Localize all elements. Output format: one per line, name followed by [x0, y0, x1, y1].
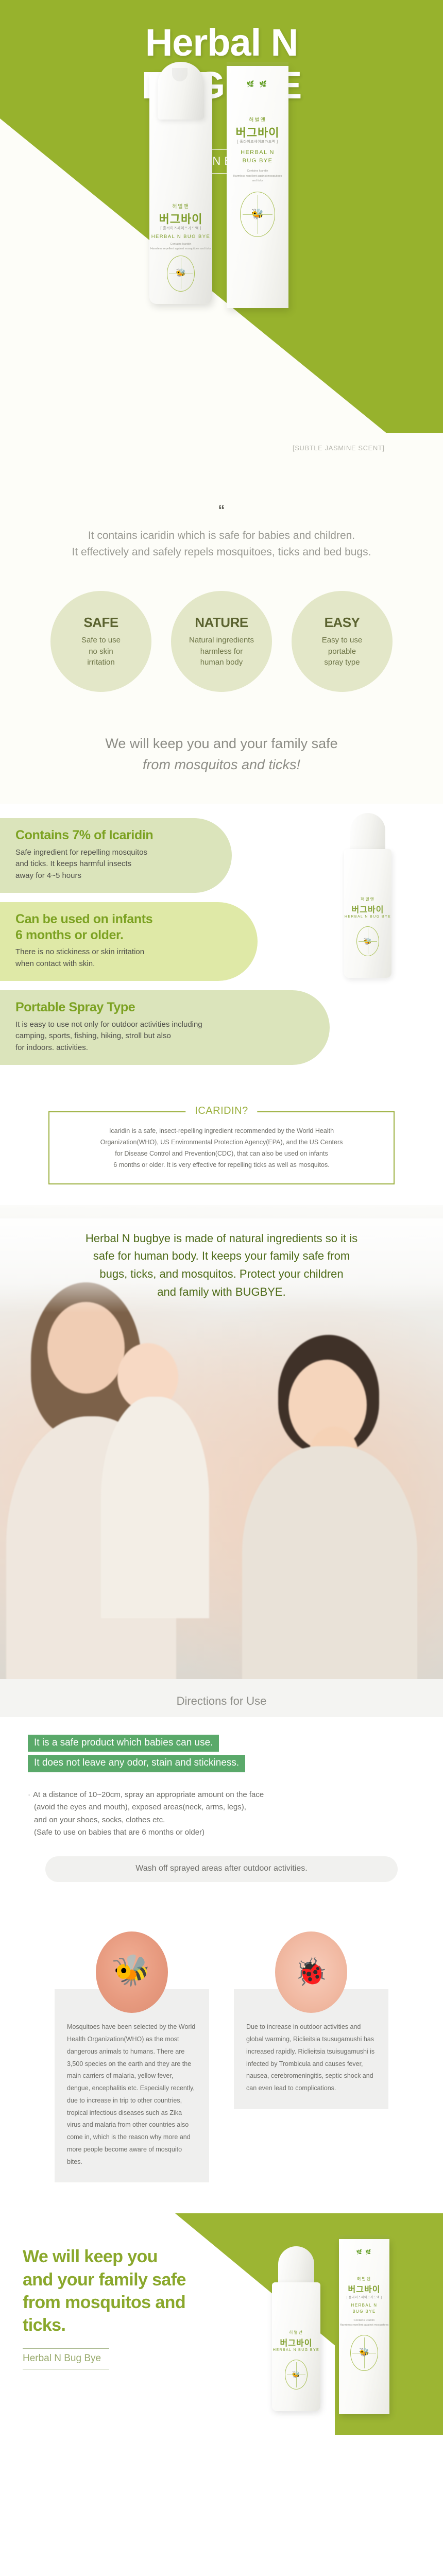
carton-label-kr-large: 버그바이	[227, 124, 288, 140]
footer-carton-kr-large: 버그바이	[339, 2282, 389, 2295]
feature-desc: Safe ingredient for repelling mosquitos …	[15, 847, 216, 882]
promise-headline: We will keep you and your family safe fr…	[0, 729, 443, 804]
quote-line1: It contains icaridin which is safe for b…	[0, 528, 443, 544]
benefit-circle-safe: SAFE Safe to use no skin irritation	[50, 591, 151, 692]
feature-desc-line2: camping, sports, fishing, hiking, stroll…	[15, 1031, 171, 1040]
feature-card-icaridin: Contains 7% of Icaridin Safe ingredient …	[0, 818, 232, 893]
carton-tiny-2: Harmless repellent against mosquitoes	[227, 174, 288, 178]
scent-note: [SUBTLE JASMINE SCENT]	[293, 444, 385, 452]
benefit-desc-line3: spray type	[322, 657, 362, 668]
icaridin-line2: Organization(WHO), US Environmental Prot…	[65, 1137, 378, 1148]
family-text-line2: safe for human body. It keeps your famil…	[21, 1247, 422, 1265]
footer-carton-mosquito-crosshair-icon: 🐝	[350, 2335, 378, 2371]
carton-tiny-3: and ticks	[227, 179, 288, 183]
footer-bottle-cap	[278, 2246, 314, 2287]
feature-desc-line2: when contact with skin.	[15, 959, 95, 968]
promise-line1: We will keep you and your family safe	[0, 733, 443, 754]
benefit-desc-line1: Safe to use	[81, 635, 121, 646]
footer-carton-bracket: [ 홀라이즈세이프가드액 ]	[339, 2295, 389, 2299]
footer-carton-mosquito-glyph: 🐝	[359, 2349, 369, 2357]
benefit-desc: Easy to use portable spray type	[322, 635, 362, 668]
icaridin-line1: Icaridin is a safe, insect-repelling ing…	[65, 1126, 378, 1137]
bottle-label-kr-small: 허벌앤	[149, 202, 212, 210]
benefit-desc: Natural ingredients harmless for human b…	[189, 635, 254, 668]
feature-title-line2: 6 months or older.	[15, 928, 124, 942]
footer-carton-kr-small: 허벌앤	[339, 2276, 389, 2282]
bottle-label-bracket: [ 홀라이즈세이프가드액 ]	[149, 226, 212, 231]
child-body-shape	[242, 1446, 417, 1679]
directions-heading: Directions for Use	[0, 1694, 443, 1717]
feature-bottle-kr-large: 버그바이	[344, 903, 391, 915]
footer-bottle-en: HERBAL N BUG BYE	[272, 2348, 320, 2352]
carton-label-en-1: HERBAL N	[227, 149, 288, 156]
directions-step-line3: and on your shoes, socks, clothes etc.	[28, 1814, 415, 1826]
benefit-desc-line3: human body	[189, 657, 254, 668]
product-detail-page: Herbal N BUGBYE Herbal N Bug Bye 허벌앤 버그바…	[0, 0, 443, 2435]
quote-line2: It effectively and safely repels mosquit…	[0, 544, 443, 561]
directions-section: Directions for Use It is a safe product …	[0, 1679, 443, 1903]
directions-steps: ·At a distance of 10~20cm, spray an appr…	[28, 1789, 415, 1839]
icaridin-callout-box: ICARIDIN? Icaridin is a safe, insect-rep…	[48, 1111, 395, 1184]
feature-desc-line3: for indoors. activities.	[15, 1043, 88, 1052]
footer-hero-section: We will keep you and your family safe fr…	[0, 2213, 443, 2435]
icaridin-body: Icaridin is a safe, insect-repelling ing…	[65, 1126, 378, 1171]
quote-text: It contains icaridin which is safe for b…	[0, 528, 443, 560]
bottle-label-tiny-1: Contains Icaridin	[149, 242, 212, 246]
footer-mosquito-crosshair-icon: 🐝	[285, 2360, 308, 2389]
bottle-label-kr-large: 버그바이	[149, 210, 212, 227]
icaridin-line4: 6 months or older. It is very effective …	[65, 1160, 378, 1171]
footer-bottle-kr-small: 허벌앤	[272, 2330, 320, 2335]
pest-card-mosquito: 🐝 Mosquitoes have been selected by the W…	[55, 1931, 209, 2182]
directions-card: It is a safe product which babies can us…	[0, 1717, 443, 1903]
mother-face-shape	[47, 1302, 125, 1394]
mosquito-icon: 🐝	[111, 1952, 154, 1989]
feature-card-portable: Portable Spray Type It is easy to use no…	[0, 990, 330, 1065]
icaridin-title: ICARIDIN?	[185, 1105, 257, 1117]
spray-bottle-cap	[158, 62, 204, 120]
footer-subtitle: Herbal N Bug Bye	[23, 2348, 109, 2369]
benefit-desc: Safe to use no skin irritation	[81, 635, 121, 668]
bottle-label-en: HERBAL N BUG BYE	[149, 234, 212, 240]
family-text-line3: bugs, ticks, and mosquitos. Protect your…	[21, 1265, 422, 1283]
carton-tiny-1: Contains Icaridin	[227, 169, 288, 173]
family-text-line4: and family with BUGBYE.	[21, 1283, 422, 1301]
icaridin-line3: for Disease Control and Prevention(CDC),…	[65, 1148, 378, 1160]
wash-off-note: Wash off sprayed areas after outdoor act…	[45, 1856, 398, 1882]
directions-step-line1: At a distance of 10~20cm, spray an appro…	[33, 1790, 264, 1799]
footer-bottle-photo: 허벌앤 버그바이 HERBAL N BUG BYE 🐝	[268, 2243, 325, 2413]
feature-bottle-body: 허벌앤 버그바이 HERBAL N BUG BYE 🐝	[344, 849, 391, 978]
pest-card-tick: 🐞 Due to increase in outdoor activities …	[234, 1931, 388, 2182]
footer-carton-en-1: HERBAL N	[339, 2303, 389, 2308]
feature-title: Portable Spray Type	[15, 999, 314, 1015]
feature-desc-line1: Safe ingredient for repelling mosquitos	[15, 848, 147, 857]
footer-carton: 🌿 🌿 허벌앤 버그바이 [ 홀라이즈세이프가드액 ] HERBAL N BUG…	[339, 2239, 389, 2414]
feature-desc-line3: away for 4~5 hours	[15, 871, 81, 880]
feature-title-line1: Can be used on infants	[15, 912, 152, 926]
feature-mosquito-glyph: 🐝	[364, 938, 372, 945]
benefit-desc-line1: Natural ingredients	[189, 635, 254, 646]
feature-title: Contains 7% of Icaridin	[15, 827, 216, 843]
quote-mark-icon: “	[0, 503, 443, 516]
directions-highlight-2: It does not leave any odor, stain and st…	[28, 1755, 245, 1772]
footer-bottle-body: 허벌앤 버그바이 HERBAL N BUG BYE 🐝	[272, 2282, 320, 2411]
footer-title-line1: We will keep you	[23, 2245, 186, 2268]
pest-description: Mosquitoes have been selected by the Wor…	[55, 1989, 209, 2182]
benefits-section: SAFE Safe to use no skin irritation NATU…	[0, 583, 443, 729]
mosquito-photo: 🐝	[96, 1931, 168, 2013]
benefit-desc-line2: portable	[322, 646, 362, 657]
footer-carton-tiny-2: Harmless repellent against mosquitoes	[339, 2323, 389, 2327]
feature-desc-line1: There is no stickiness or skin irritatio…	[15, 947, 144, 956]
carton-label-bracket: [ 홀라이즈세이프가드액 ]	[227, 139, 288, 144]
directions-step-line4: (Safe to use on babies that are 6 months…	[28, 1826, 415, 1839]
benefit-title: EASY	[325, 615, 360, 631]
feature-bottle-kr-small: 허벌앤	[344, 896, 391, 902]
feature-bottle-en: HERBAL N BUG BYE	[344, 915, 391, 919]
quote-section: “ It contains icaridin which is safe for…	[0, 479, 443, 583]
product-carton: 🌿 🌿 허벌앤 버그바이 [ 홀라이즈세이프가드액 ] HERBAL N BUG…	[227, 66, 288, 308]
directions-bullet-icon: ·	[28, 1790, 30, 1799]
footer-carton-en-2: BUG BYE	[339, 2309, 389, 2314]
family-photo-banner: Herbal N bugbye is made of natural ingre…	[0, 1205, 443, 1679]
tick-photo: 🐞	[275, 1931, 347, 2013]
footer-bottle-kr-large: 버그바이	[272, 2336, 320, 2348]
benefit-circle-easy: EASY Easy to use portable spray type	[292, 591, 393, 692]
directions-step-line2: (avoid the eyes and mouth), exposed area…	[28, 1801, 415, 1814]
footer-carton-tiny-1: Contains Icaridin	[339, 2318, 389, 2323]
directions-highlight-1: It is a safe product which babies can us…	[28, 1735, 219, 1752]
family-text-line1: Herbal N bugbye is made of natural ingre…	[21, 1230, 422, 1248]
bottle-label-tiny-2: Harmless repellent against mosquitoes an…	[149, 247, 212, 251]
carton-label-kr-small: 허벌앤	[227, 115, 288, 123]
benefit-title: SAFE	[83, 615, 118, 631]
footer-mosquito-glyph: 🐝	[292, 2371, 300, 2378]
mosquito-glyph: 🐝	[176, 269, 186, 278]
hero-title-line1: Herbal N	[0, 22, 443, 64]
footer-title: We will keep you and your family safe fr…	[23, 2245, 186, 2336]
feature-card-infants: Can be used on infants 6 months or older…	[0, 902, 258, 981]
features-section: 허벌앤 버그바이 HERBAL N BUG BYE 🐝 Contains 7% …	[0, 804, 443, 1102]
promise-line2: from mosquitos and ticks!	[143, 757, 300, 772]
feature-desc-line2: and ticks. It keeps harmful insects	[15, 859, 131, 868]
footer-title-line3: from mosquitos and	[23, 2291, 186, 2314]
feature-desc: There is no stickiness or skin irritatio…	[15, 946, 242, 970]
feature-bottle-cap	[350, 813, 385, 854]
feature-title: Can be used on infants 6 months or older…	[15, 911, 242, 943]
carton-leaf-motif: 🌿 🌿	[227, 80, 288, 88]
carton-label-en-2: BUG BYE	[227, 158, 288, 164]
benefit-desc-line3: irritation	[81, 657, 121, 668]
mosquito-crosshair-icon: 🐝	[167, 256, 195, 292]
benefit-desc-line2: no skin	[81, 646, 121, 657]
benefit-desc-line2: harmless for	[189, 646, 254, 657]
carton-mosquito-crosshair-icon: 🐝	[240, 192, 275, 237]
benefit-desc-line1: Easy to use	[322, 635, 362, 646]
family-banner-text: Herbal N bugbye is made of natural ingre…	[0, 1218, 443, 1313]
footer-carton-leaf-motif: 🌿 🌿	[339, 2249, 389, 2255]
feature-desc: It is easy to use not only for outdoor a…	[15, 1019, 314, 1054]
footer-title-line4: ticks.	[23, 2314, 186, 2336]
benefit-circle-nature: NATURE Natural ingredients harmless for …	[171, 591, 272, 692]
feature-mosquito-crosshair-icon: 🐝	[356, 926, 379, 956]
baby-body-shape	[101, 1397, 209, 1618]
feature-desc-line1: It is easy to use not only for outdoor a…	[15, 1020, 202, 1029]
hero-section: Herbal N BUGBYE Herbal N Bug Bye 허벌앤 버그바…	[0, 0, 443, 479]
feature-bottle-photo: 허벌앤 버그바이 HERBAL N BUG BYE 🐝	[340, 809, 396, 979]
icaridin-section: ICARIDIN? Icaridin is a safe, insect-rep…	[0, 1102, 443, 1205]
footer-title-line2: and your family safe	[23, 2268, 186, 2291]
product-photo-group: 허벌앤 버그바이 [ 홀라이즈세이프가드액 ] HERBAL N BUG BYE…	[0, 62, 443, 469]
carton-mosquito-glyph: 🐝	[251, 209, 264, 219]
tick-icon: 🐞	[295, 1959, 328, 1986]
benefit-title: NATURE	[195, 615, 248, 631]
pest-info-section: 🐝 Mosquitoes have been selected by the W…	[0, 1903, 443, 2213]
